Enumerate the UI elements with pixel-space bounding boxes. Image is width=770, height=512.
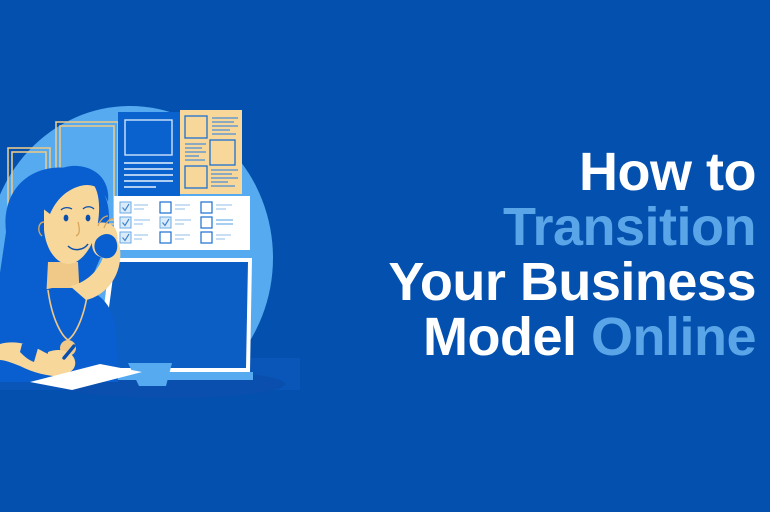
headline-line-2: Transition <box>286 200 756 255</box>
eye-right <box>86 215 91 222</box>
poster-canvas: How to Transition Your Business Model On… <box>0 0 770 512</box>
woman-on-phone <box>0 166 120 382</box>
headline-line-4: Model Online <box>286 310 756 365</box>
wall-checklist <box>114 196 250 250</box>
headline-line-1: How to <box>286 145 756 200</box>
wall-document-blue <box>118 112 180 196</box>
headline-seg-model: Model <box>423 307 591 367</box>
headline-seg-your-business: Your Business <box>388 252 756 312</box>
wall-document-tan <box>180 110 242 194</box>
hero-illustration <box>0 0 300 512</box>
eye-left <box>64 215 69 222</box>
desktop-monitor <box>95 258 253 386</box>
headline-seg-transition: Transition <box>503 197 756 257</box>
headline-seg-how-to: How to <box>579 142 756 202</box>
headline-block: How to Transition Your Business Model On… <box>286 145 756 365</box>
headline-seg-online: Online <box>591 307 756 367</box>
desk-lower <box>0 386 300 512</box>
headline-line-3: Your Business <box>286 255 756 310</box>
